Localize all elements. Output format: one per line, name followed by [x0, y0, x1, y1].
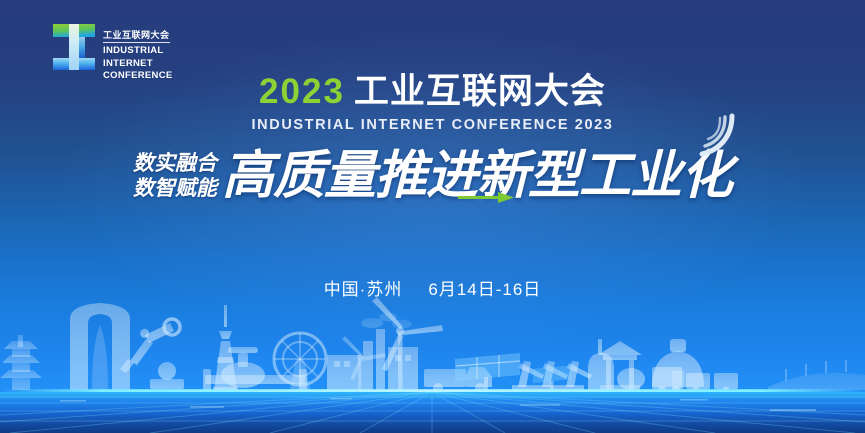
perspective-grid: [0, 392, 865, 433]
slogan-secondary-line-1: 数实融合: [133, 151, 217, 176]
conference-banner: 工业互联网大会 INDUSTRIAL INTERNET CONFERENCE 2…: [0, 0, 865, 433]
event-year: 2023: [259, 72, 345, 111]
event-title: 2023工业互联网大会: [0, 72, 865, 112]
event-title-cn: 工业互联网大会: [354, 72, 606, 111]
gate-of-the-orient-shape: [70, 303, 130, 390]
slogan-primary: 高质量推进新型工业化: [222, 146, 732, 206]
ground-plane: [0, 389, 865, 433]
slogan-secondary: 数实融合 数智赋能: [133, 151, 217, 201]
industrial-internet-conference-logo-icon: [52, 22, 96, 72]
perspective-grid-lines: [0, 392, 865, 433]
green-arrow-icon: [458, 191, 514, 204]
wifi-signal-icon: [692, 112, 738, 158]
logo-cn-name: 工业互联网大会: [103, 29, 170, 43]
factory-shape: [327, 313, 418, 391]
city-industry-skyline: [0, 283, 865, 393]
slogan-secondary-line-2: 数智赋能: [133, 176, 217, 201]
bridge-shape: [768, 360, 865, 390]
logo-en-line-1: INDUSTRIAL: [103, 45, 173, 58]
pagoda-shape: [0, 335, 42, 390]
slogan-block: 数实融合 数智赋能 高质量推进新型工业化: [0, 146, 865, 206]
logo-en-line-2: INTERNET: [103, 58, 173, 71]
